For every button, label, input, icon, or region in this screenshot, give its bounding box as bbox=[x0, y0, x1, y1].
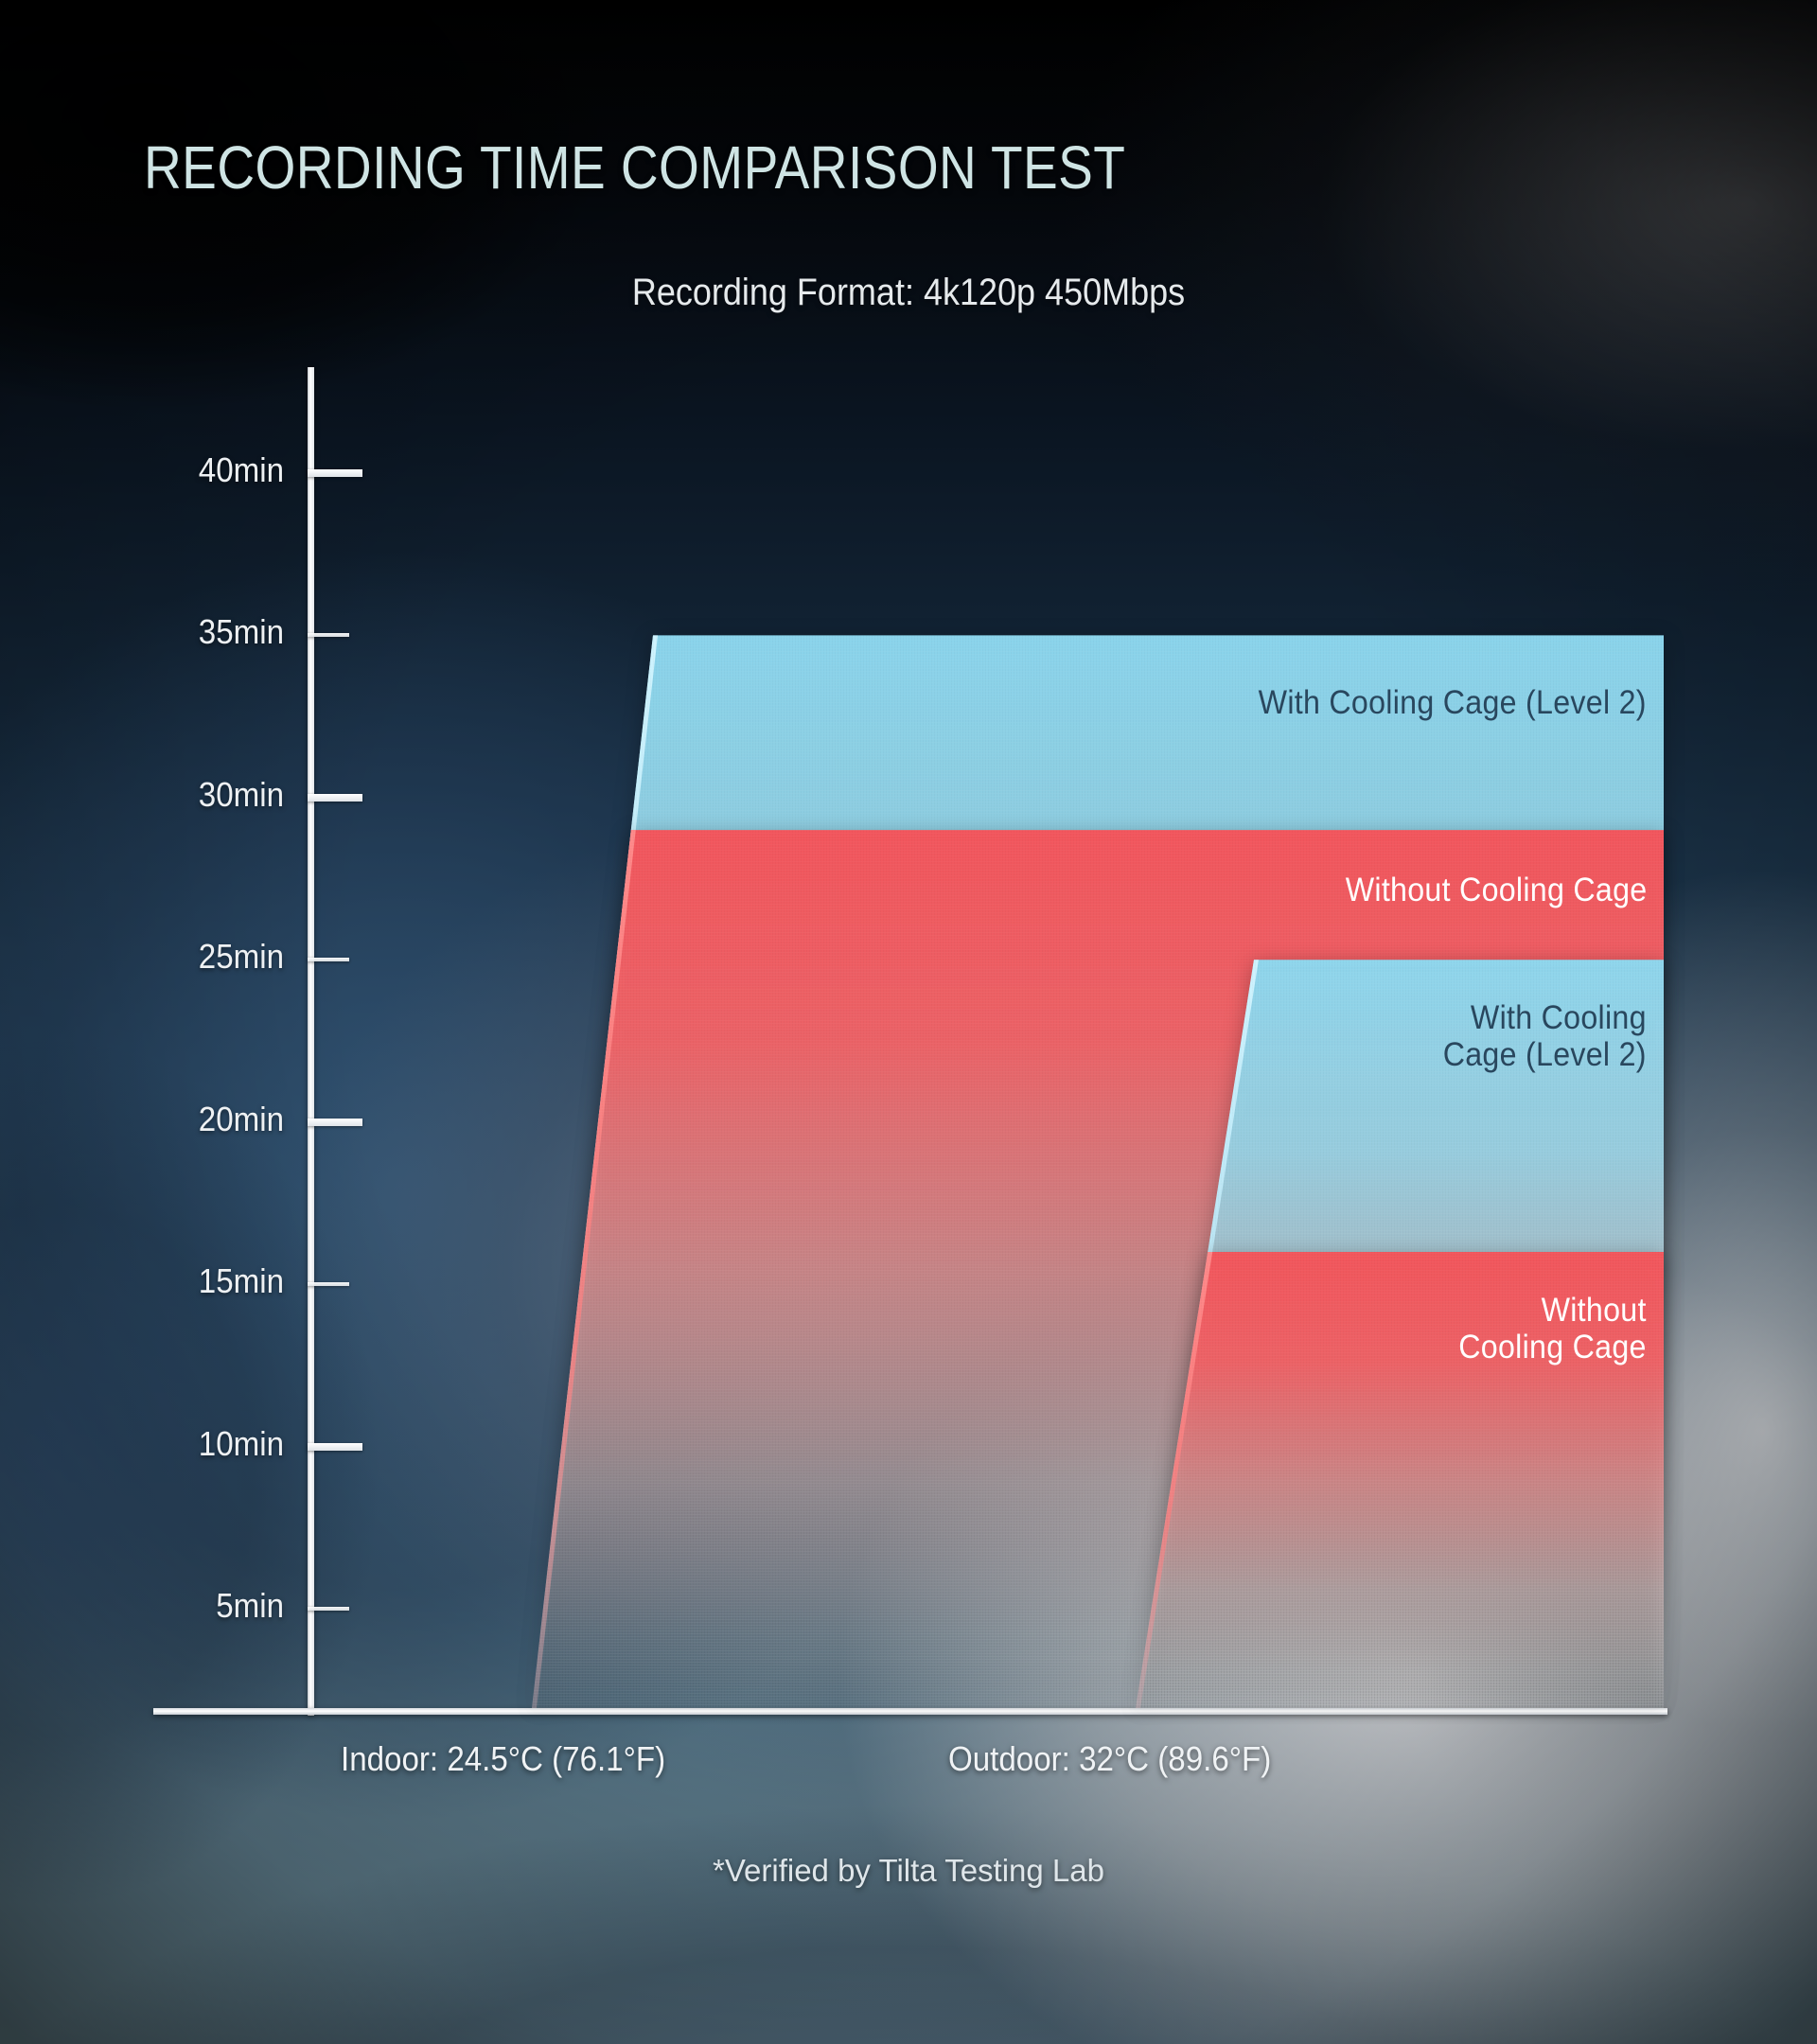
bar-label-indoor-without-cage: Without Cooling Cage bbox=[1345, 872, 1647, 908]
bar-group: With Cooling Cage (Level 2)Without Cooli… bbox=[0, 0, 1817, 2044]
chart-footnote: *Verified by Tilta Testing Lab bbox=[0, 1853, 1817, 1889]
recording-time-chart: RECORDING TIME COMPARISON TEST Recording… bbox=[0, 0, 1817, 2044]
x-axis-label-outdoor: Outdoor: 32°C (89.6°F) bbox=[948, 1739, 1271, 1779]
bar-label-indoor-with-cage: With Cooling Cage (Level 2) bbox=[1259, 684, 1647, 721]
bar-label-outdoor-without-cage: Without Cooling Cage bbox=[1459, 1292, 1647, 1366]
x-axis-label-indoor: Indoor: 24.5°C (76.1°F) bbox=[341, 1739, 665, 1779]
bar-outdoor-without-cage[interactable]: Without Cooling Cage bbox=[0, 1252, 1817, 1708]
bar-label-outdoor-with-cage: With Cooling Cage (Level 2) bbox=[1443, 999, 1647, 1073]
